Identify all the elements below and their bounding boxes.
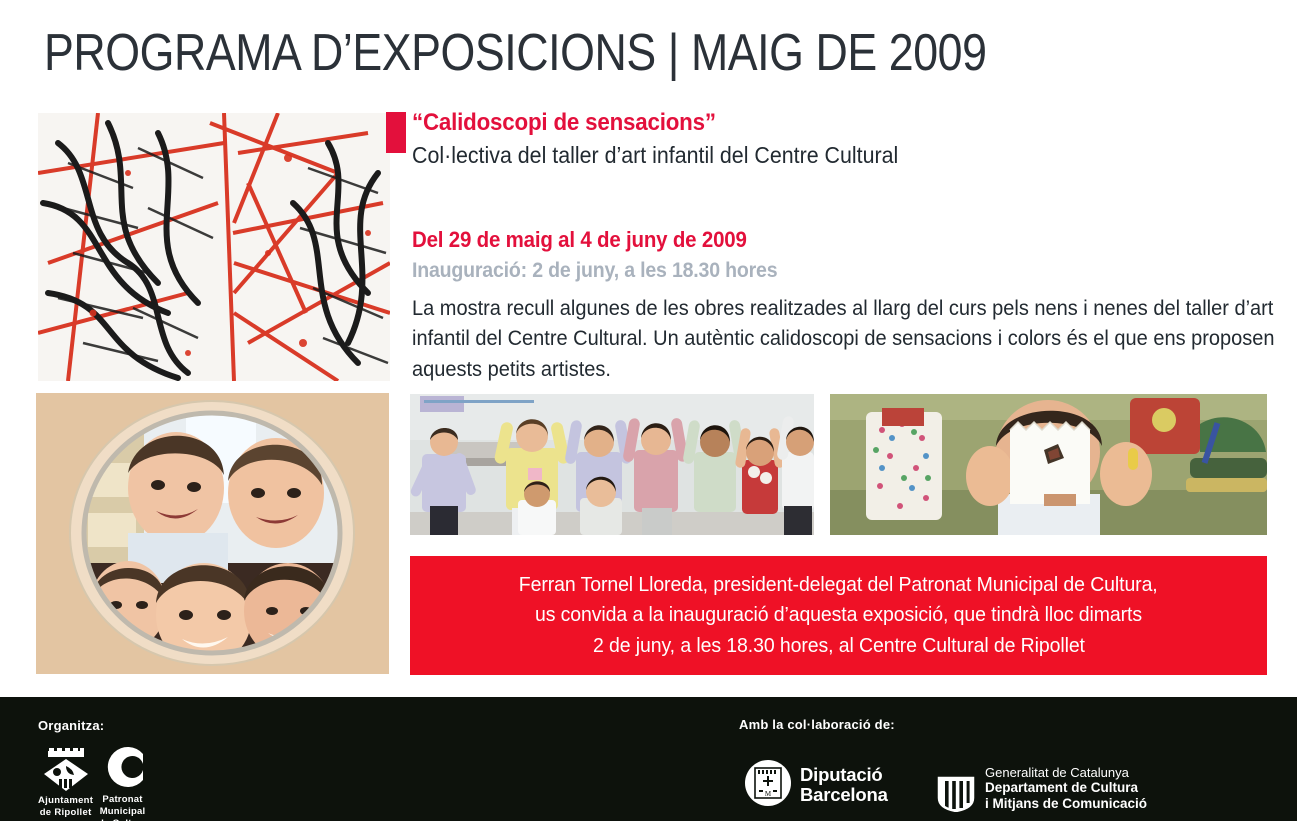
diputacio-line-2: Barcelona bbox=[800, 785, 888, 806]
diputacio-line-1: Diputació bbox=[800, 765, 888, 786]
generalitat-line-3: i Mitjans de Comunicació bbox=[985, 796, 1147, 812]
ajuntament-line-1: Ajuntament bbox=[38, 795, 93, 807]
artwork-abstract-painting bbox=[38, 113, 390, 381]
invitation-line-3: 2 de juny, a les 18.30 hores, al Centre … bbox=[593, 631, 1085, 662]
ripollet-coat-of-arms-icon bbox=[40, 748, 92, 792]
exhibition-description: La mostra recull algunes de les obres re… bbox=[412, 293, 1277, 385]
exhibition-title: “Calidoscopi de sensacions” bbox=[412, 108, 1219, 138]
exhibition-subtitle: Col·lectiva del taller d’art infantil de… bbox=[412, 141, 1219, 171]
logo-diputacio-barcelona: M Diputació Barcelona bbox=[745, 760, 888, 806]
patronat-c-logo-icon bbox=[99, 744, 145, 790]
patronat-line-2: Municipal bbox=[98, 806, 147, 818]
diputacio-barcelona-seal-icon: M bbox=[745, 760, 791, 806]
exhibition-text-column: “Calidoscopi de sensacions” Col·lectiva … bbox=[412, 108, 1280, 384]
logo-patronat-municipal-cultura: Patronat Municipal de Cultura bbox=[98, 744, 178, 821]
invitation-box: Ferran Tornel Lloreda, president-delegat… bbox=[410, 556, 1267, 675]
exhibition-opening: Inauguració: 2 de juny, a les 18.30 hore… bbox=[412, 259, 1219, 283]
invitation-line-1: Ferran Tornel Lloreda, president-delegat… bbox=[519, 570, 1158, 601]
ajuntament-line-2: de Ripollet bbox=[38, 807, 93, 819]
organitza-label: Organitza: bbox=[38, 718, 104, 733]
patronat-line-1: Patronat bbox=[98, 794, 147, 806]
invitation-line-2: us convida a la inauguració d’aquesta ex… bbox=[535, 600, 1142, 631]
generalitat-line-1: Generalitat de Catalunya bbox=[985, 765, 1147, 780]
generalitat-catalunya-shield-icon bbox=[936, 772, 976, 812]
photo-children-circle bbox=[36, 393, 389, 674]
logo-ajuntament-ripollet: Ajuntament de Ripollet bbox=[38, 748, 104, 819]
generalitat-line-2: Departament de Cultura bbox=[985, 780, 1147, 796]
photo-children-arms-raised bbox=[410, 394, 814, 535]
page-title: PROGRAMA D’EXPOSICIONS | MAIG DE 2009 bbox=[44, 24, 990, 82]
exhibition-poster: PROGRAMA D’EXPOSICIONS | MAIG DE 2009 bbox=[0, 0, 1297, 821]
photo-child-paper-mask bbox=[830, 394, 1267, 535]
collaboracio-label: Amb la col·laboració de: bbox=[739, 717, 895, 732]
exhibition-dates: Del 29 de maig al 4 de juny de 2009 bbox=[412, 227, 1219, 253]
logo-generalitat-catalunya: Generalitat de Catalunya Departament de … bbox=[936, 765, 1147, 812]
red-accent-square bbox=[386, 112, 406, 153]
svg-text:M: M bbox=[765, 790, 772, 798]
